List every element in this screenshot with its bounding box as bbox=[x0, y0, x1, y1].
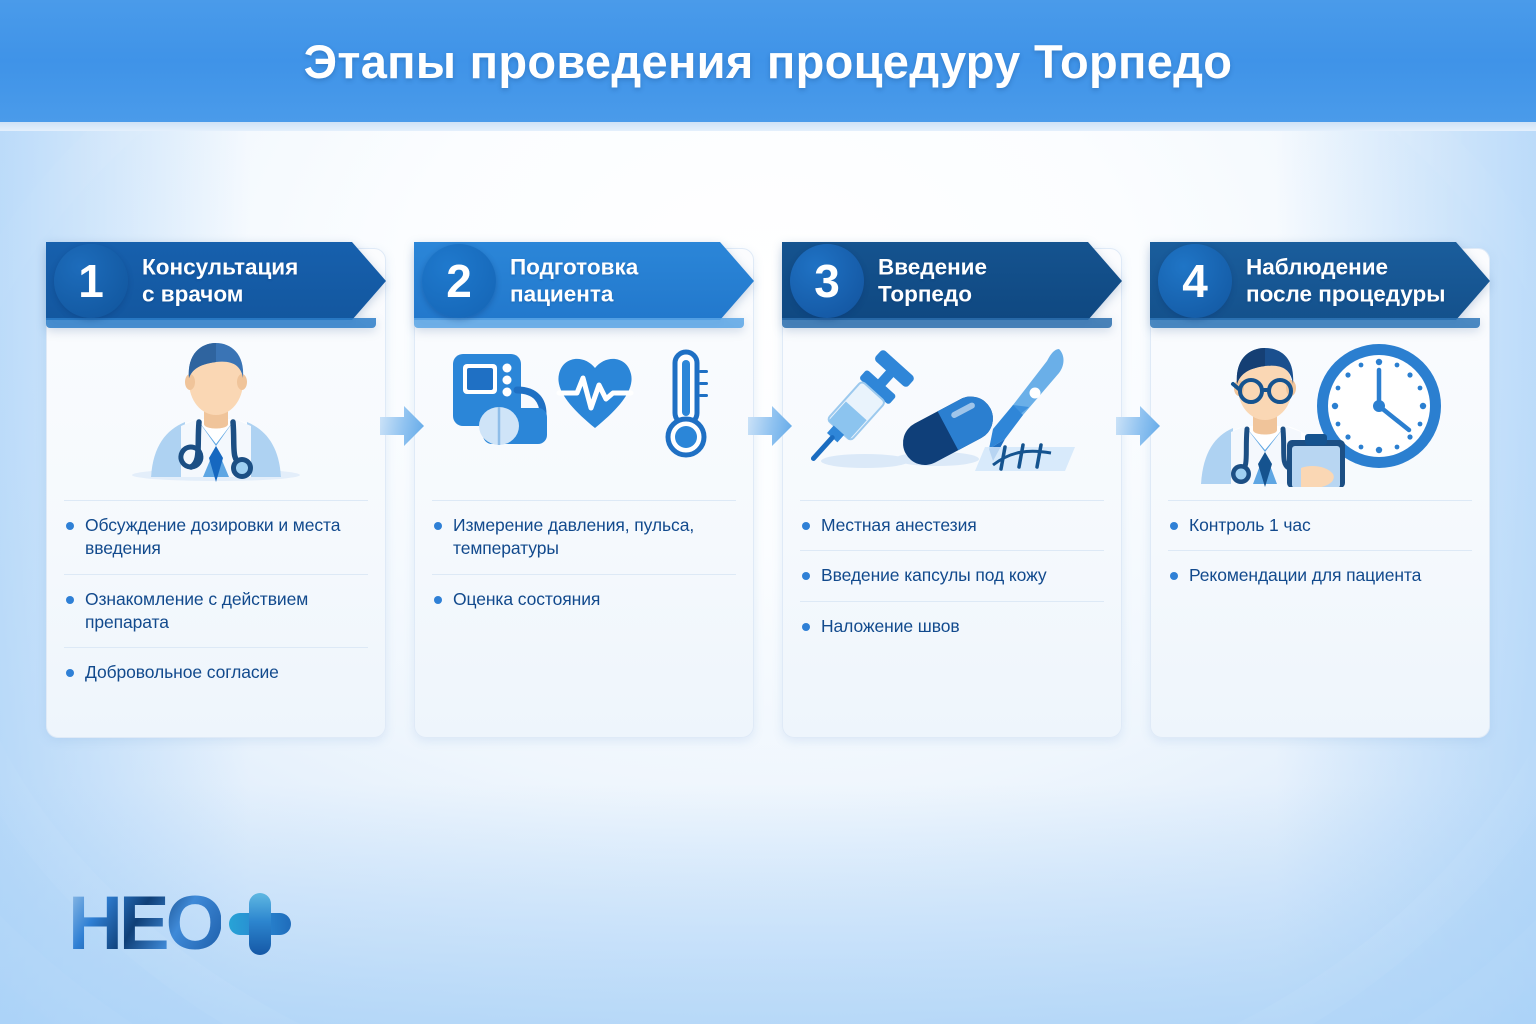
bullet-text: Добровольное согласие bbox=[85, 661, 279, 684]
page-title: Этапы проведения процедуру Торпедо bbox=[304, 34, 1233, 89]
step-bullet-list: Местная анестезия Введение капсулы под к… bbox=[800, 500, 1104, 651]
list-item: Добровольное согласие bbox=[64, 647, 368, 697]
list-item: Рекомендации для пациента bbox=[1168, 550, 1472, 600]
bullet-dot-icon bbox=[802, 522, 810, 530]
connector-2 bbox=[754, 228, 782, 738]
step-title-line2: с врачом bbox=[142, 281, 367, 308]
bullet-dot-icon bbox=[802, 572, 810, 580]
list-item: Обсуждение дозировки и места введения bbox=[64, 500, 368, 574]
infographic-page: Этапы проведения процедуру Торпедо 1 Кон… bbox=[0, 0, 1536, 1024]
blood-pressure-monitor-icon bbox=[453, 354, 547, 445]
logo-wordmark: HEO bbox=[68, 886, 221, 962]
vitals-monitor-heart-thermometer-icon bbox=[414, 328, 754, 490]
step-title: Наблюдение после процедуры bbox=[1246, 254, 1471, 309]
list-item: Местная анестезия bbox=[800, 500, 1104, 550]
step-title: Подготовка пациента bbox=[510, 254, 735, 309]
scalpel-icon bbox=[989, 349, 1064, 461]
step-title-line1: Наблюдение bbox=[1246, 254, 1471, 281]
step-card-3[interactable]: 3 Введение Торпедо bbox=[782, 228, 1122, 738]
bullet-text: Контроль 1 час bbox=[1189, 514, 1311, 537]
step-ribbon-shade bbox=[782, 318, 1112, 328]
bullet-text: Измерение давления, пульса, температуры bbox=[453, 514, 732, 561]
bullet-text: Введение капсулы под кожу bbox=[821, 564, 1047, 587]
bullet-text: Наложение швов bbox=[821, 615, 960, 638]
bullet-dot-icon bbox=[66, 596, 74, 604]
bullet-dot-icon bbox=[1170, 522, 1178, 530]
step-header-3: 3 Введение Торпедо bbox=[782, 242, 1122, 320]
step-bullet-list: Обсуждение дозировки и места введения Оз… bbox=[64, 500, 368, 697]
bullet-text: Рекомендации для пациента bbox=[1189, 564, 1421, 587]
step-card-4[interactable]: 4 Наблюдение после процедуры bbox=[1150, 228, 1490, 738]
step-header-2: 2 Подготовка пациента bbox=[414, 242, 754, 320]
plus-icon bbox=[229, 893, 291, 955]
bullet-dot-icon bbox=[802, 623, 810, 631]
page-header: Этапы проведения процедуру Торпедо bbox=[0, 0, 1536, 122]
step-card-2[interactable]: 2 Подготовка пациента bbox=[414, 228, 754, 738]
plus-vertical-bar bbox=[249, 893, 271, 955]
bullet-dot-icon bbox=[434, 596, 442, 604]
list-item: Введение капсулы под кожу bbox=[800, 550, 1104, 600]
list-item: Ознакомление с действием препарата bbox=[64, 574, 368, 648]
step-card-1[interactable]: 1 Консультация с врачом bbox=[46, 228, 386, 738]
step-title-line1: Консультация bbox=[142, 254, 367, 281]
step-title: Консультация с врачом bbox=[142, 254, 367, 309]
thermometer-icon bbox=[668, 352, 708, 455]
list-item: Контроль 1 час bbox=[1168, 500, 1472, 550]
connector-3 bbox=[1122, 228, 1150, 738]
step-title-line2: пациента bbox=[510, 281, 735, 308]
list-item: Наложение швов bbox=[800, 601, 1104, 651]
step-header-4: 4 Наблюдение после процедуры bbox=[1150, 242, 1490, 320]
step-ribbon-shade bbox=[414, 318, 744, 328]
connector-1 bbox=[386, 228, 414, 738]
neo-plus-logo: HEO bbox=[68, 886, 291, 962]
bullet-dot-icon bbox=[66, 522, 74, 530]
sutures-icon bbox=[975, 445, 1075, 471]
step-title-line2: после процедуры bbox=[1246, 281, 1471, 308]
step-number-badge: 2 bbox=[422, 244, 496, 318]
step-header-1: 1 Консультация с врачом bbox=[46, 242, 386, 320]
header-underline bbox=[0, 122, 1536, 131]
step-bullet-list: Измерение давления, пульса, температуры … bbox=[432, 500, 736, 624]
syringe-capsule-scalpel-icon bbox=[782, 328, 1122, 490]
doctor-stethoscope-icon bbox=[46, 328, 386, 490]
bullet-dot-icon bbox=[434, 522, 442, 530]
step-title-line1: Введение bbox=[878, 254, 1103, 281]
step-title-line2: Торпедо bbox=[878, 281, 1103, 308]
steps-row: 1 Консультация с врачом bbox=[46, 228, 1490, 740]
doctor-clipboard-clock-icon bbox=[1150, 328, 1490, 490]
step-bullet-list: Контроль 1 час Рекомендации для пациента bbox=[1168, 500, 1472, 601]
step-number-badge: 1 bbox=[54, 244, 128, 318]
heart-pulse-icon bbox=[558, 359, 631, 428]
list-item: Измерение давления, пульса, температуры bbox=[432, 500, 736, 574]
step-number-badge: 4 bbox=[1158, 244, 1232, 318]
bullet-text: Оценка состояния bbox=[453, 588, 600, 611]
step-ribbon-shade bbox=[1150, 318, 1480, 328]
step-ribbon-shade bbox=[46, 318, 376, 328]
step-title: Введение Торпедо bbox=[878, 254, 1103, 309]
bullet-dot-icon bbox=[1170, 572, 1178, 580]
bullet-text: Местная анестезия bbox=[821, 514, 977, 537]
bullet-text: Обсуждение дозировки и места введения bbox=[85, 514, 364, 561]
list-item: Оценка состояния bbox=[432, 574, 736, 624]
step-title-line1: Подготовка bbox=[510, 254, 735, 281]
bullet-text: Ознакомление с действием препарата bbox=[85, 588, 364, 635]
bullet-dot-icon bbox=[66, 669, 74, 677]
step-number-badge: 3 bbox=[790, 244, 864, 318]
